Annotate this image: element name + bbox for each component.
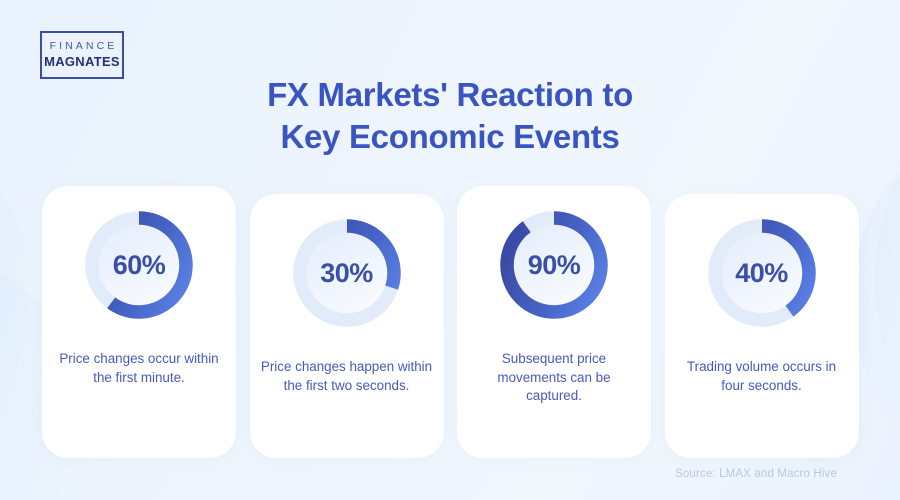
- stat-card-caption: Price changes occur within the first min…: [42, 350, 236, 387]
- brand-logo-line2: MAGNATES: [44, 54, 120, 70]
- stat-card[interactable]: 30%Price changes happen within the first…: [250, 194, 444, 458]
- brand-logo: FINANCE MAGNATES: [40, 31, 124, 79]
- stat-card[interactable]: 60%Price changes occur within the first …: [42, 186, 236, 458]
- stat-card-row: 60%Price changes occur within the first …: [42, 186, 858, 458]
- stat-card[interactable]: 90%Subsequent price movements can be cap…: [457, 186, 651, 458]
- donut-value-label: 40%: [703, 214, 821, 332]
- source-credit: Source: LMAX and Macro Hive: [675, 468, 837, 480]
- stat-card-caption: Subsequent price movements can be captur…: [457, 350, 651, 406]
- brand-logo-line1: FINANCE: [47, 40, 118, 52]
- donut-value-label: 90%: [495, 206, 613, 324]
- infographic-canvas: FINANCE MAGNATES FX Markets' Reaction to…: [0, 0, 900, 500]
- donut-chart: 90%: [495, 206, 613, 324]
- stat-card[interactable]: 40%Trading volume occurs in four seconds…: [665, 194, 859, 458]
- page-title: FX Markets' Reaction to Key Economic Eve…: [0, 74, 900, 157]
- page-title-line1: FX Markets' Reaction to: [0, 74, 900, 116]
- donut-chart: 30%: [288, 214, 406, 332]
- donut-value-label: 30%: [288, 214, 406, 332]
- donut-value-label: 60%: [80, 206, 198, 324]
- page-title-line2: Key Economic Events: [0, 116, 900, 158]
- donut-chart: 60%: [80, 206, 198, 324]
- stat-card-caption: Trading volume occurs in four seconds.: [665, 358, 859, 395]
- stat-card-caption: Price changes happen within the first tw…: [250, 358, 444, 395]
- donut-chart: 40%: [703, 214, 821, 332]
